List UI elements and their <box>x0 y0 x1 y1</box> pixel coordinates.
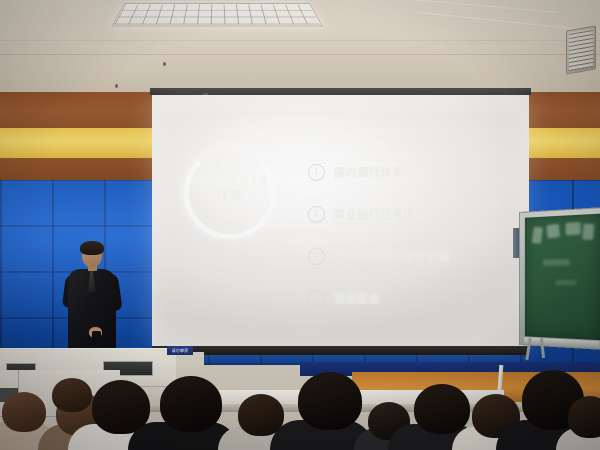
lecture-hall-photo: CONTENTS 目录 1 国内银行体系 2 商业银行招考体系 3 中国人民银行… <box>0 0 600 450</box>
agenda-list: 1 国内银行体系 2 商业银行招考体系 3 中国人民银行招考讲解 4 银保监会 <box>308 157 523 325</box>
agenda-item-text: 中国人民银行招考讲解 <box>334 248 450 264</box>
agenda-item: 1 国内银行体系 <box>308 157 523 187</box>
agenda-item-number: 4 <box>308 290 325 307</box>
ceiling-seam <box>0 54 600 55</box>
ceiling-fixture-dot <box>163 62 166 66</box>
podium-warning-sign: 请勿攀爬 <box>167 346 193 355</box>
chalkboard-surface <box>525 214 600 341</box>
slide-content: CONTENTS 目录 1 国内银行体系 2 商业银行招考体系 3 中国人民银行… <box>152 95 529 350</box>
screen-bottom-weight-bar <box>152 346 529 355</box>
agenda-item: 2 商业银行招考体系 <box>308 199 523 229</box>
chalk-mark <box>546 224 560 239</box>
contents-chinese-label: 目录 <box>184 187 276 204</box>
light-diffuser-grid <box>114 5 319 25</box>
contents-badge: CONTENTS 目录 <box>184 147 276 239</box>
projection-screen: CONTENTS 目录 1 国内银行体系 2 商业银行招考体系 3 中国人民银行… <box>152 95 529 350</box>
agenda-item-text: 国内银行体系 <box>334 164 404 180</box>
chalk-mark <box>582 224 594 240</box>
glasses-icon <box>83 252 101 257</box>
person-head <box>568 396 600 438</box>
agenda-item: 3 中国人民银行招考讲解 <box>308 241 523 271</box>
agenda-item-text: 银保监会 <box>334 290 380 306</box>
ceiling-seam <box>330 0 559 13</box>
vent-slats <box>569 29 593 71</box>
podium-warning-sign-text: 请勿攀爬 <box>168 347 192 354</box>
person-head <box>160 376 222 432</box>
ceiling-vent <box>566 25 596 74</box>
chalk-mark <box>543 259 570 266</box>
chalk-mark <box>566 222 581 235</box>
ceiling-light-panel <box>111 3 323 26</box>
person-head <box>2 392 46 432</box>
ceiling <box>0 0 600 92</box>
person-head <box>414 384 470 434</box>
chalk-mark <box>532 227 543 244</box>
chalk-mark <box>555 280 576 285</box>
agenda-item-number: 2 <box>308 206 325 223</box>
agenda-item-number: 3 <box>308 248 325 265</box>
presenter <box>62 243 122 355</box>
audience <box>0 360 600 450</box>
agenda-item: 4 银保监会 <box>308 283 523 313</box>
person-head <box>52 378 92 412</box>
person-head <box>298 372 362 430</box>
agenda-item-number: 1 <box>308 164 325 181</box>
ceiling-fixture-dot <box>115 84 118 88</box>
chalkboard <box>519 207 600 350</box>
agenda-item-text: 商业银行招考体系 <box>334 206 427 222</box>
ceiling-seam <box>0 40 600 41</box>
contents-english-label: CONTENTS <box>184 173 276 187</box>
